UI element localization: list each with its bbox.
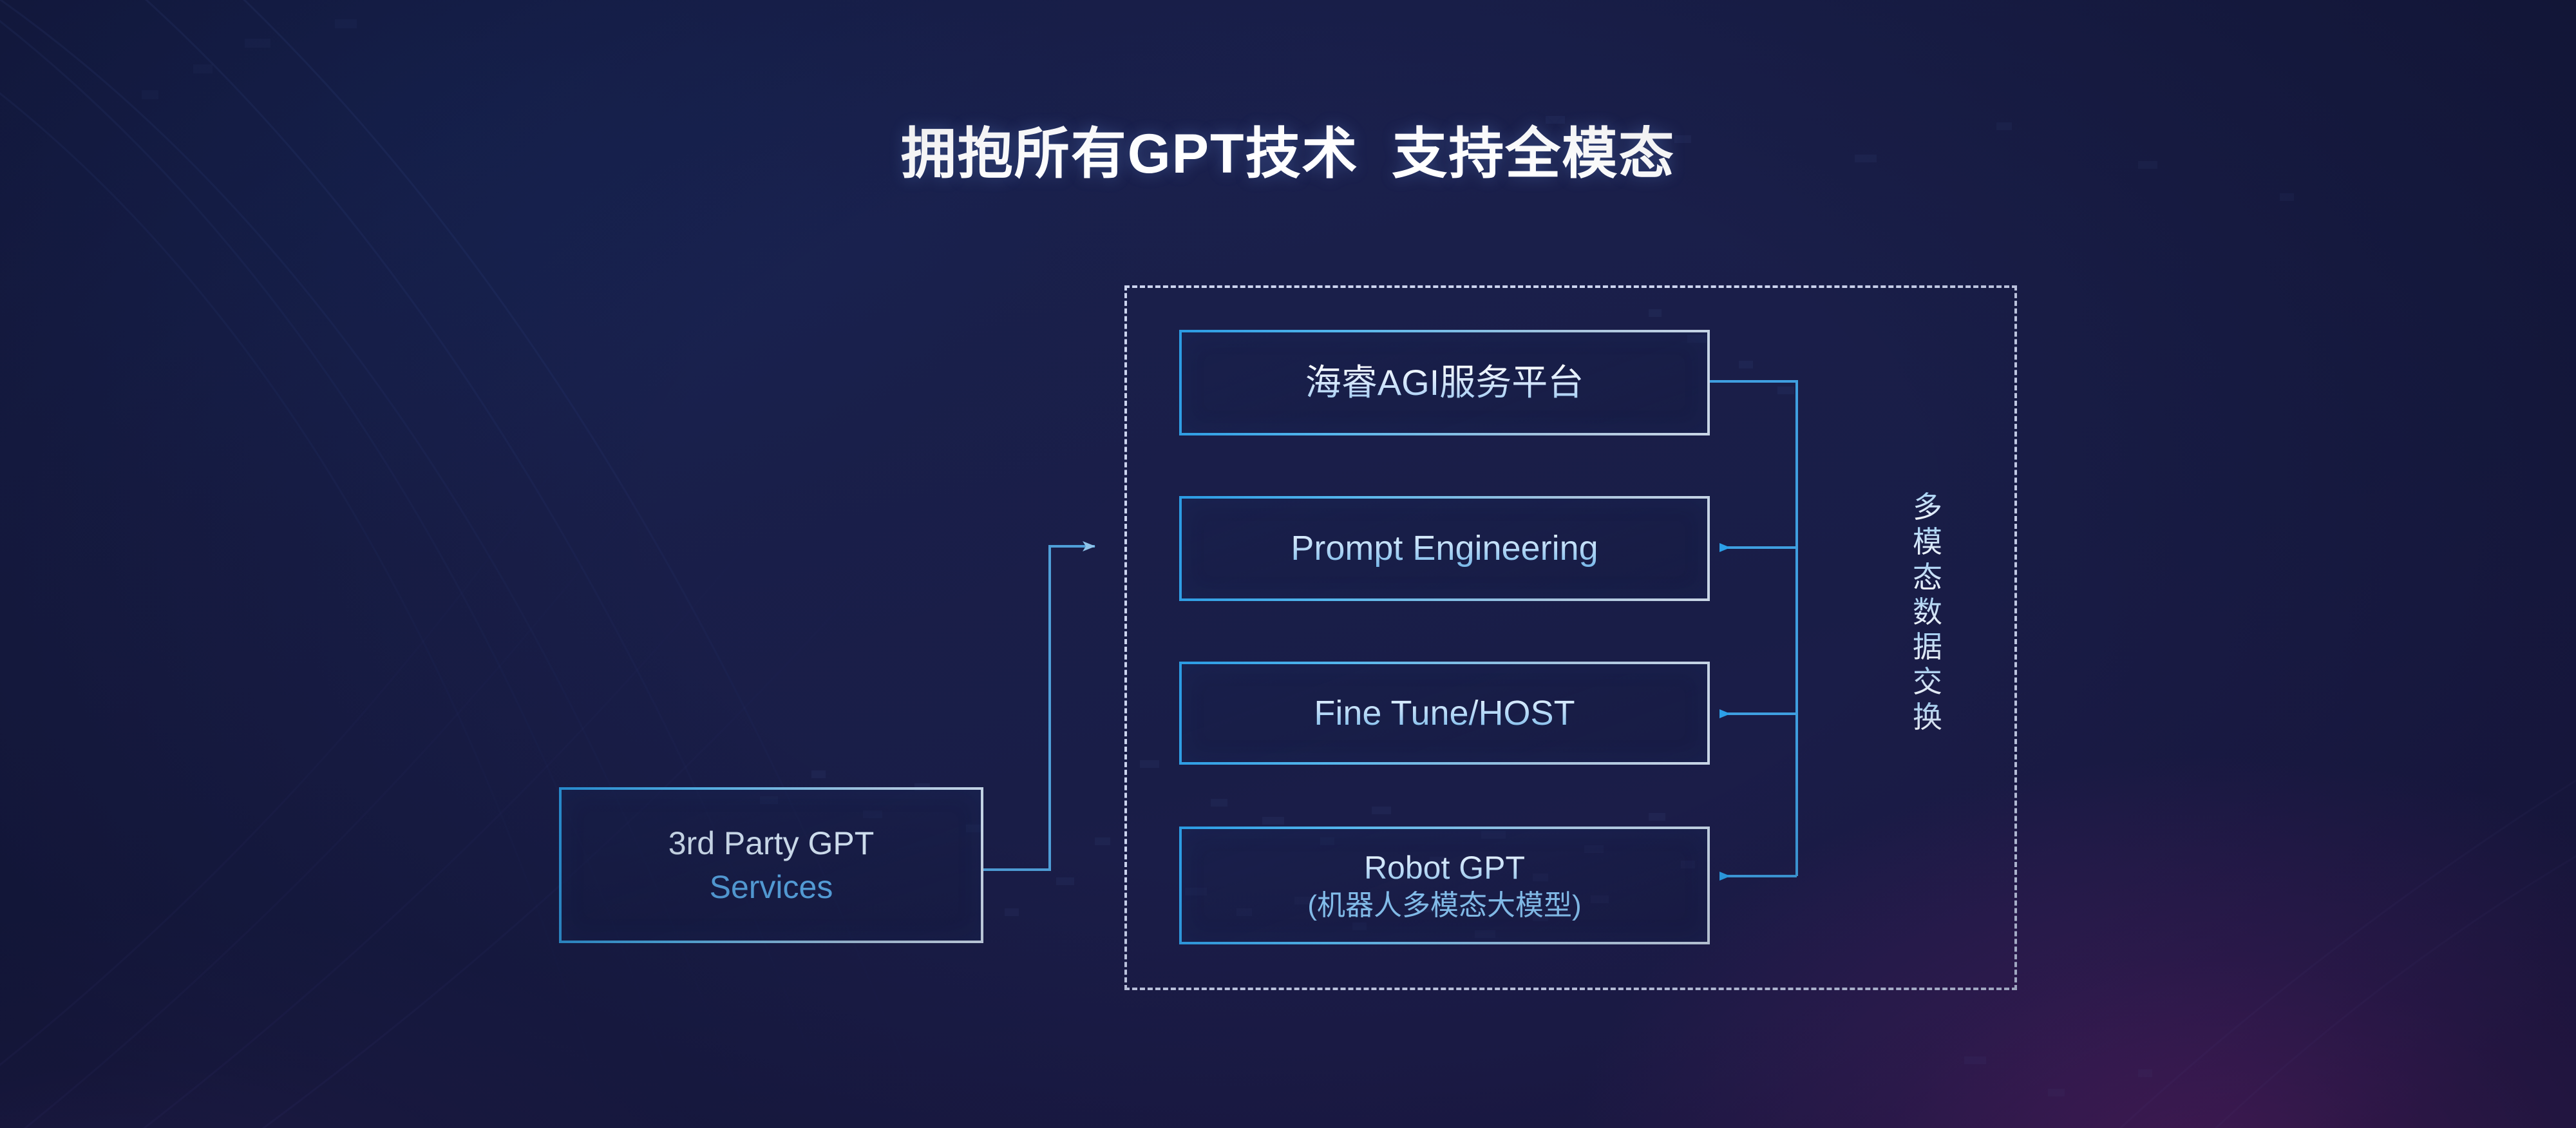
node-third-party-gpt-services[interactable]: 3rd Party GPT Services [559,787,983,943]
side-label-multimodal-data-exchange: 多 模 态 数 据 交 换 [1906,490,1949,734]
side-label-char: 态 [1906,560,1949,595]
side-label-char: 交 [1906,664,1949,699]
side-label-char: 数 [1906,595,1949,629]
node-finetune-label: Fine Tune/HOST [1314,694,1575,732]
node-third-party-line1: 3rd Party GPT [668,825,875,861]
node-platform-label: 海睿AGI服务平台 [1305,363,1584,403]
node-robot-subtitle: (机器人多模态大模型) [1307,890,1581,921]
node-prompt-engineering[interactable]: Prompt Engineering [1179,496,1710,601]
side-label-char: 换 [1906,700,1949,734]
node-prompt-label: Prompt Engineering [1291,529,1598,568]
node-fine-tune-host[interactable]: Fine Tune/HOST [1179,662,1710,765]
slide-title: 拥抱所有GPT技术 支持全模态 [0,108,2576,189]
node-platform[interactable]: 海睿AGI服务平台 [1179,330,1710,435]
node-third-party-line2: Services [710,869,833,905]
side-label-char: 模 [1906,524,1949,559]
node-robot-title: Robot GPT [1364,850,1525,886]
node-robot-gpt[interactable]: Robot GPT (机器人多模态大模型) [1179,827,1710,944]
side-label-char: 据 [1906,629,1949,664]
slide-canvas: 拥抱所有GPT技术 支持全模态 海睿AGI服务平台 P [0,0,2576,1128]
side-label-char: 多 [1906,490,1949,524]
